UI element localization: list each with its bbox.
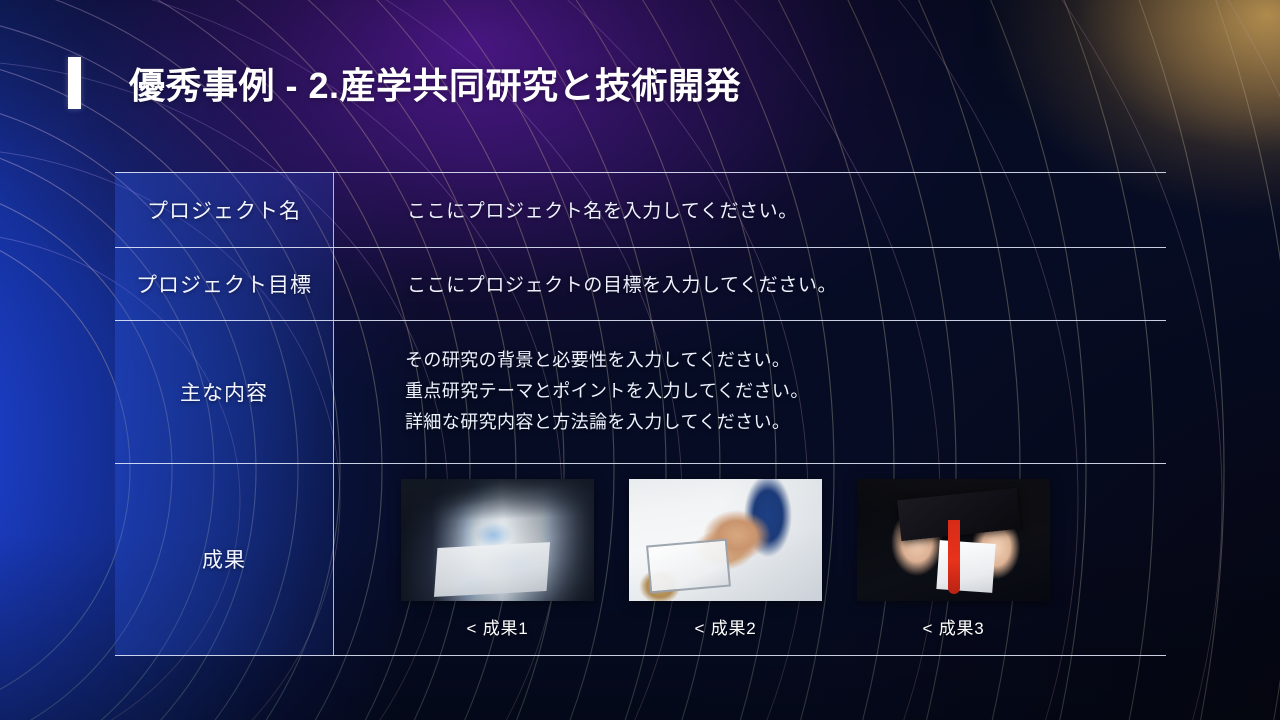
row-label-main-content: 主な内容 (115, 320, 333, 463)
row-label-project-name: プロジェクト名 (115, 172, 333, 247)
graduation-cap-tassel-photo[interactable] (857, 479, 1050, 601)
row-value-project-name[interactable]: ここにプロジェクト名を入力してください。 (333, 172, 1166, 247)
meeting-photo-fill (401, 479, 594, 601)
result-item-2[interactable]: < 成果2 (629, 479, 822, 639)
graduation-photo-fill (857, 479, 1050, 601)
result-caption-2: < 成果2 (629, 614, 822, 639)
row-value-results: < 成果1 < 成果2 (333, 463, 1166, 655)
row-value-main-content[interactable]: その研究の背景と必要性を入力してください。 重点研究テーマとポイントを入力してく… (333, 320, 1166, 463)
table-row: 成果 < 成果1 < 成果2 (115, 463, 1166, 655)
graduation-board-shape (898, 487, 1021, 541)
main-content-line-3: 詳細な研究内容と方法論を入力してください。 (405, 407, 790, 438)
main-content-line-2: 重点研究テーマとポイントを入力してください。 (405, 376, 809, 407)
result-caption-3: < 成果3 (857, 614, 1050, 639)
results-thumbnail-group: < 成果1 < 成果2 (401, 479, 1050, 639)
table-line-bottom (115, 655, 1166, 656)
row-label-results: 成果 (115, 463, 333, 655)
page-title: 優秀事例 - 2.産学共同研究と技術開発 (129, 57, 741, 109)
slide-title-row: 優秀事例 - 2.産学共同研究と技術開発 (68, 57, 741, 109)
hands-photo-fill (629, 479, 822, 601)
table-row: プロジェクト目標 ここにプロジェクトの目標を入力してください。 (115, 247, 1166, 320)
title-accent-bar (68, 57, 81, 109)
graduation-diploma-shape (936, 541, 995, 594)
info-table: プロジェクト名 ここにプロジェクト名を入力してください。 プロジェクト目標 ここ… (115, 172, 1166, 656)
table-row: 主な内容 その研究の背景と必要性を入力してください。 重点研究テーマとポイントを… (115, 320, 1166, 463)
main-content-line-1: その研究の背景と必要性を入力してください。 (405, 345, 790, 376)
table-row: プロジェクト名 ここにプロジェクト名を入力してください。 (115, 172, 1166, 247)
result-item-3[interactable]: < 成果3 (857, 479, 1050, 639)
business-meeting-documents-photo[interactable] (401, 479, 594, 601)
row-value-project-goal[interactable]: ここにプロジェクトの目標を入力してください。 (333, 247, 1166, 320)
result-item-1[interactable]: < 成果1 (401, 479, 594, 639)
result-caption-1: < 成果1 (401, 614, 594, 639)
row-label-project-goal: プロジェクト目標 (115, 247, 333, 320)
slide-canvas: 優秀事例 - 2.産学共同研究と技術開発 プロジェクト名 ここにプロジェクト名を… (0, 0, 1280, 720)
team-hands-stacked-photo[interactable] (629, 479, 822, 601)
